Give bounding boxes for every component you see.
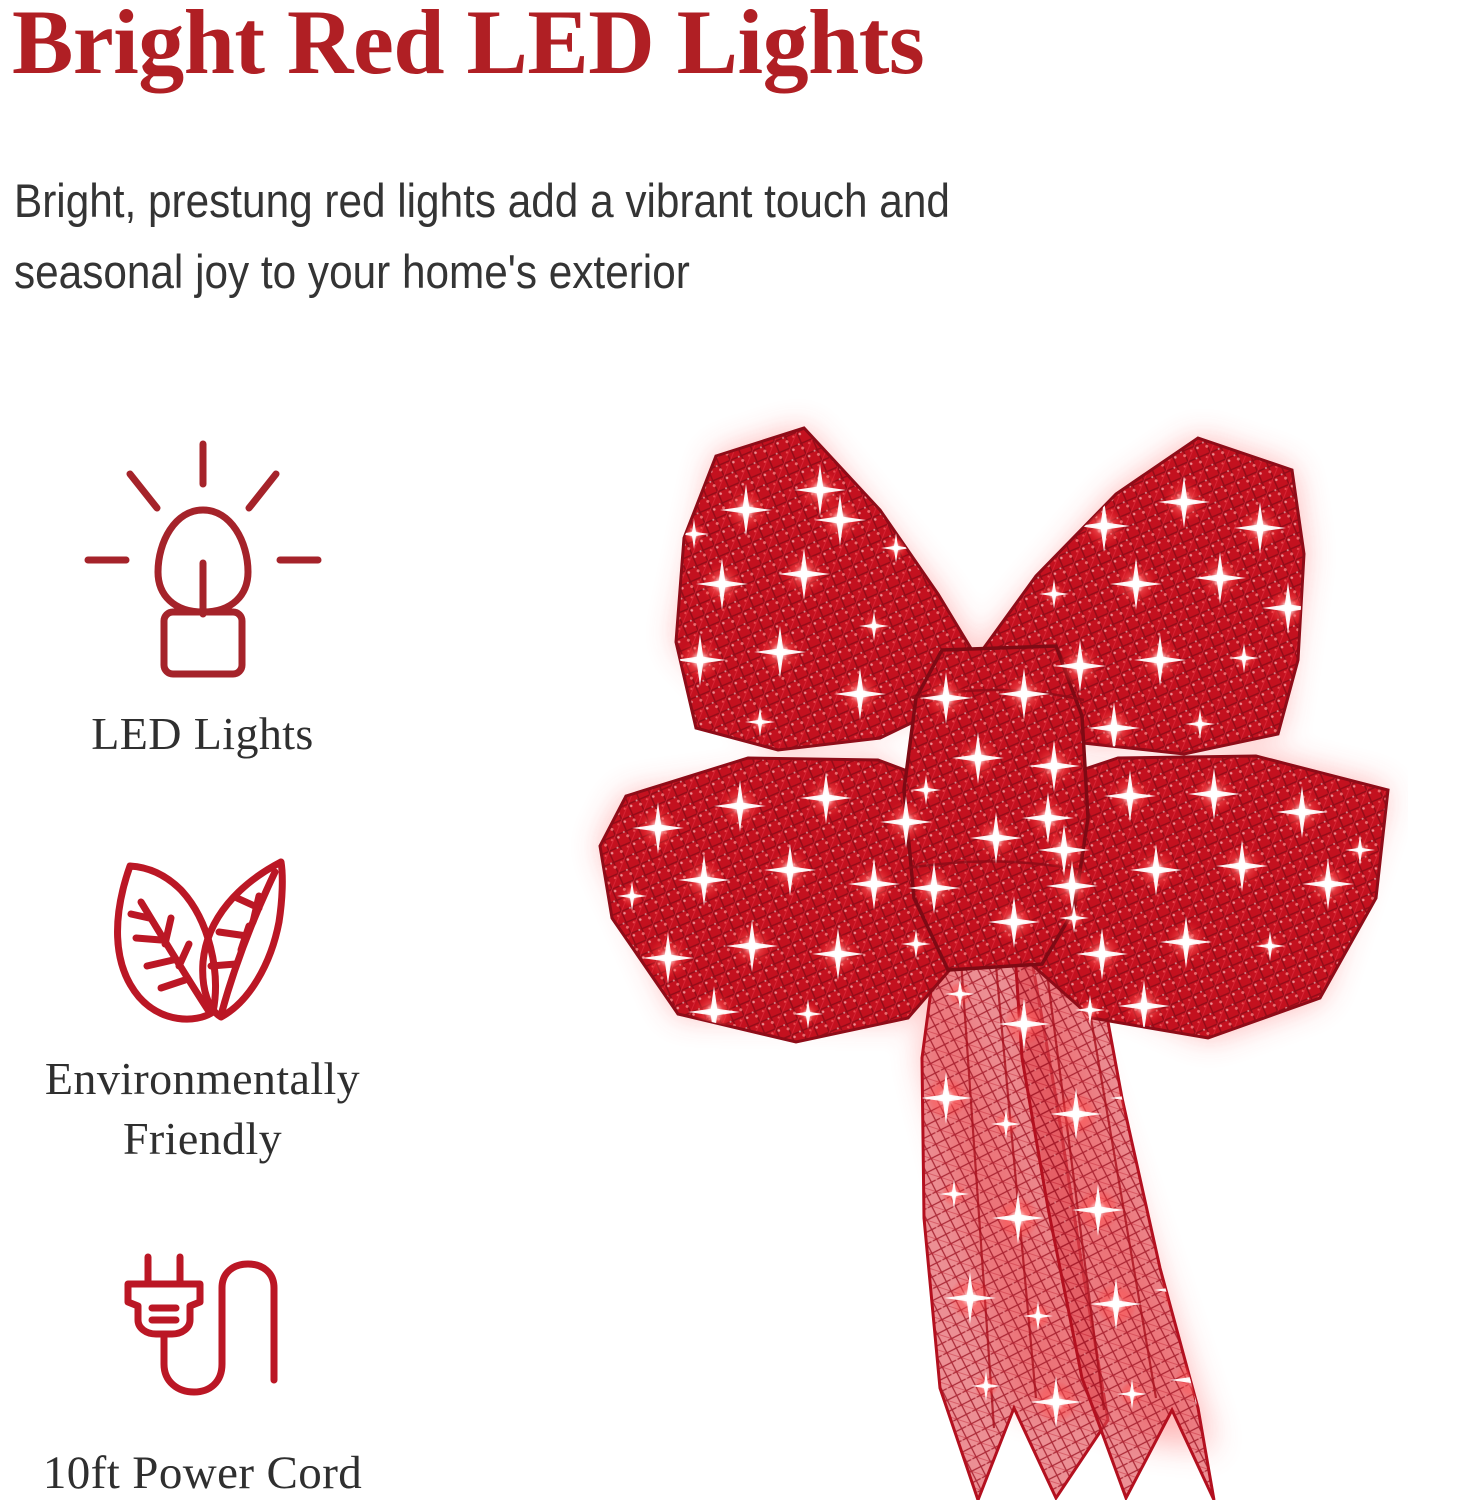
lighted-red-bow-graphic <box>508 398 1408 1500</box>
feature-label: Environmentally Friendly <box>0 1049 405 1169</box>
feature-power-cord: 10ft Power Cord <box>0 1252 405 1500</box>
feature-label: LED Lights <box>0 704 405 764</box>
power-plug-cord-icon <box>98 1252 308 1417</box>
light-bulb-icon <box>78 432 328 682</box>
subtitle-line-2: seasonal joy to your home's exterior <box>14 237 1238 308</box>
feature-label-line-1: Environmentally <box>0 1049 405 1109</box>
feature-label: 10ft Power Cord <box>0 1443 405 1500</box>
leaves-icon <box>103 852 303 1027</box>
feature-led-lights: LED Lights <box>0 432 405 764</box>
feature-eco-friendly: Environmentally Friendly <box>0 852 405 1169</box>
bulb-base <box>164 612 242 674</box>
page-title: Bright Red LED Lights <box>12 0 924 92</box>
promo-panel: Bright Red LED Lights Bright, prestung r… <box>0 0 1466 1500</box>
subtitle: Bright, prestung red lights add a vibran… <box>14 166 1238 307</box>
subtitle-line-1: Bright, prestung red lights add a vibran… <box>14 166 1238 237</box>
feature-label-line-2: Friendly <box>0 1109 405 1169</box>
product-image <box>508 398 1408 1500</box>
